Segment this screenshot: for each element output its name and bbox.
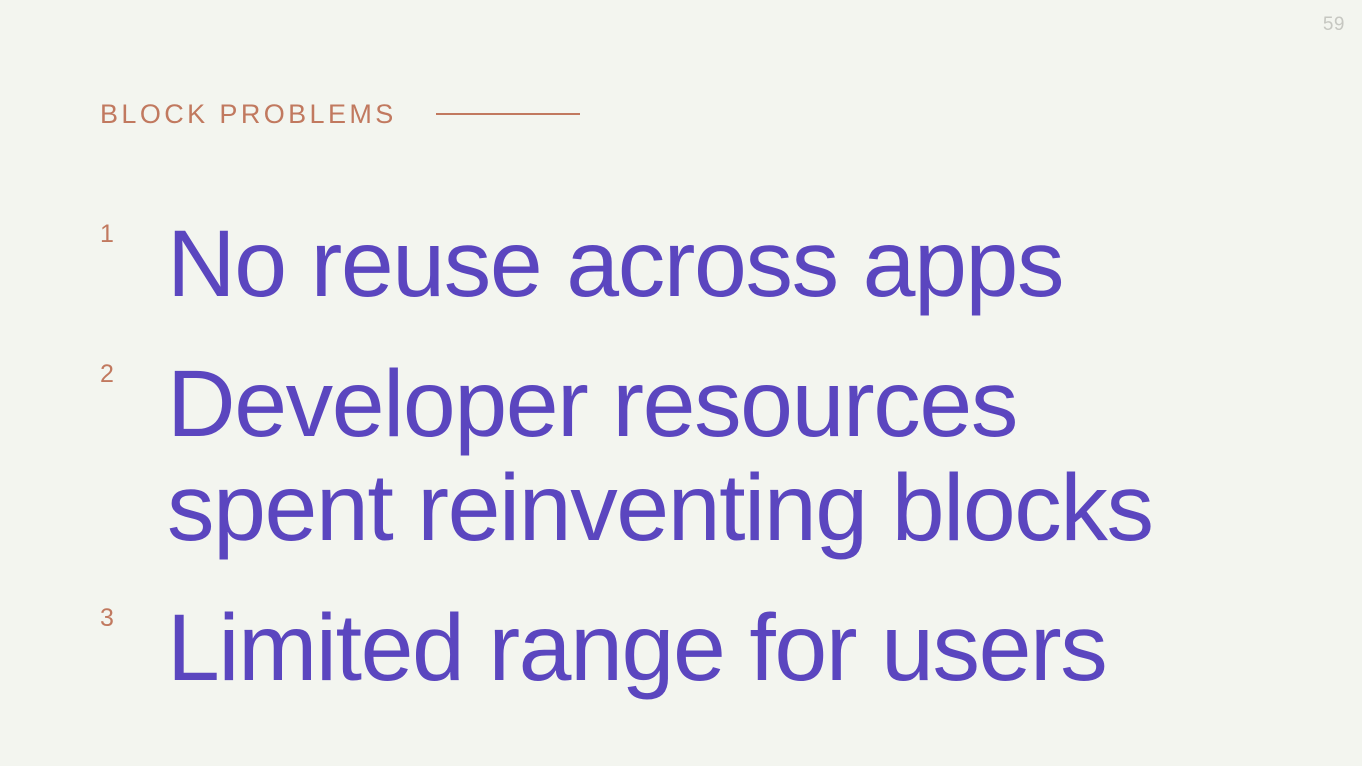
eyebrow-heading: BLOCK PROBLEMS bbox=[100, 96, 580, 132]
list-item-text: Limited range for users bbox=[167, 596, 1280, 700]
list-item: 1 No reuse across apps bbox=[100, 212, 1280, 316]
list-item: 3 Limited range for users bbox=[100, 596, 1280, 700]
list-item-marker: 2 bbox=[100, 362, 146, 387]
eyebrow-label: BLOCK PROBLEMS bbox=[100, 96, 397, 132]
list-item-marker: 1 bbox=[100, 222, 146, 247]
numbered-list: 1 No reuse across apps 2 Developer resou… bbox=[100, 212, 1280, 700]
list-item-text: Developer resources spent reinventing bl… bbox=[167, 352, 1280, 560]
slide-canvas: 59 BLOCK PROBLEMS 1 No reuse across apps… bbox=[0, 0, 1362, 766]
list-item: 2 Developer resources spent reinventing … bbox=[100, 352, 1280, 560]
list-item-text: No reuse across apps bbox=[167, 212, 1280, 316]
page-number: 59 bbox=[1323, 15, 1345, 34]
list-item-marker: 3 bbox=[100, 606, 146, 631]
eyebrow-rule-divider bbox=[436, 113, 580, 115]
